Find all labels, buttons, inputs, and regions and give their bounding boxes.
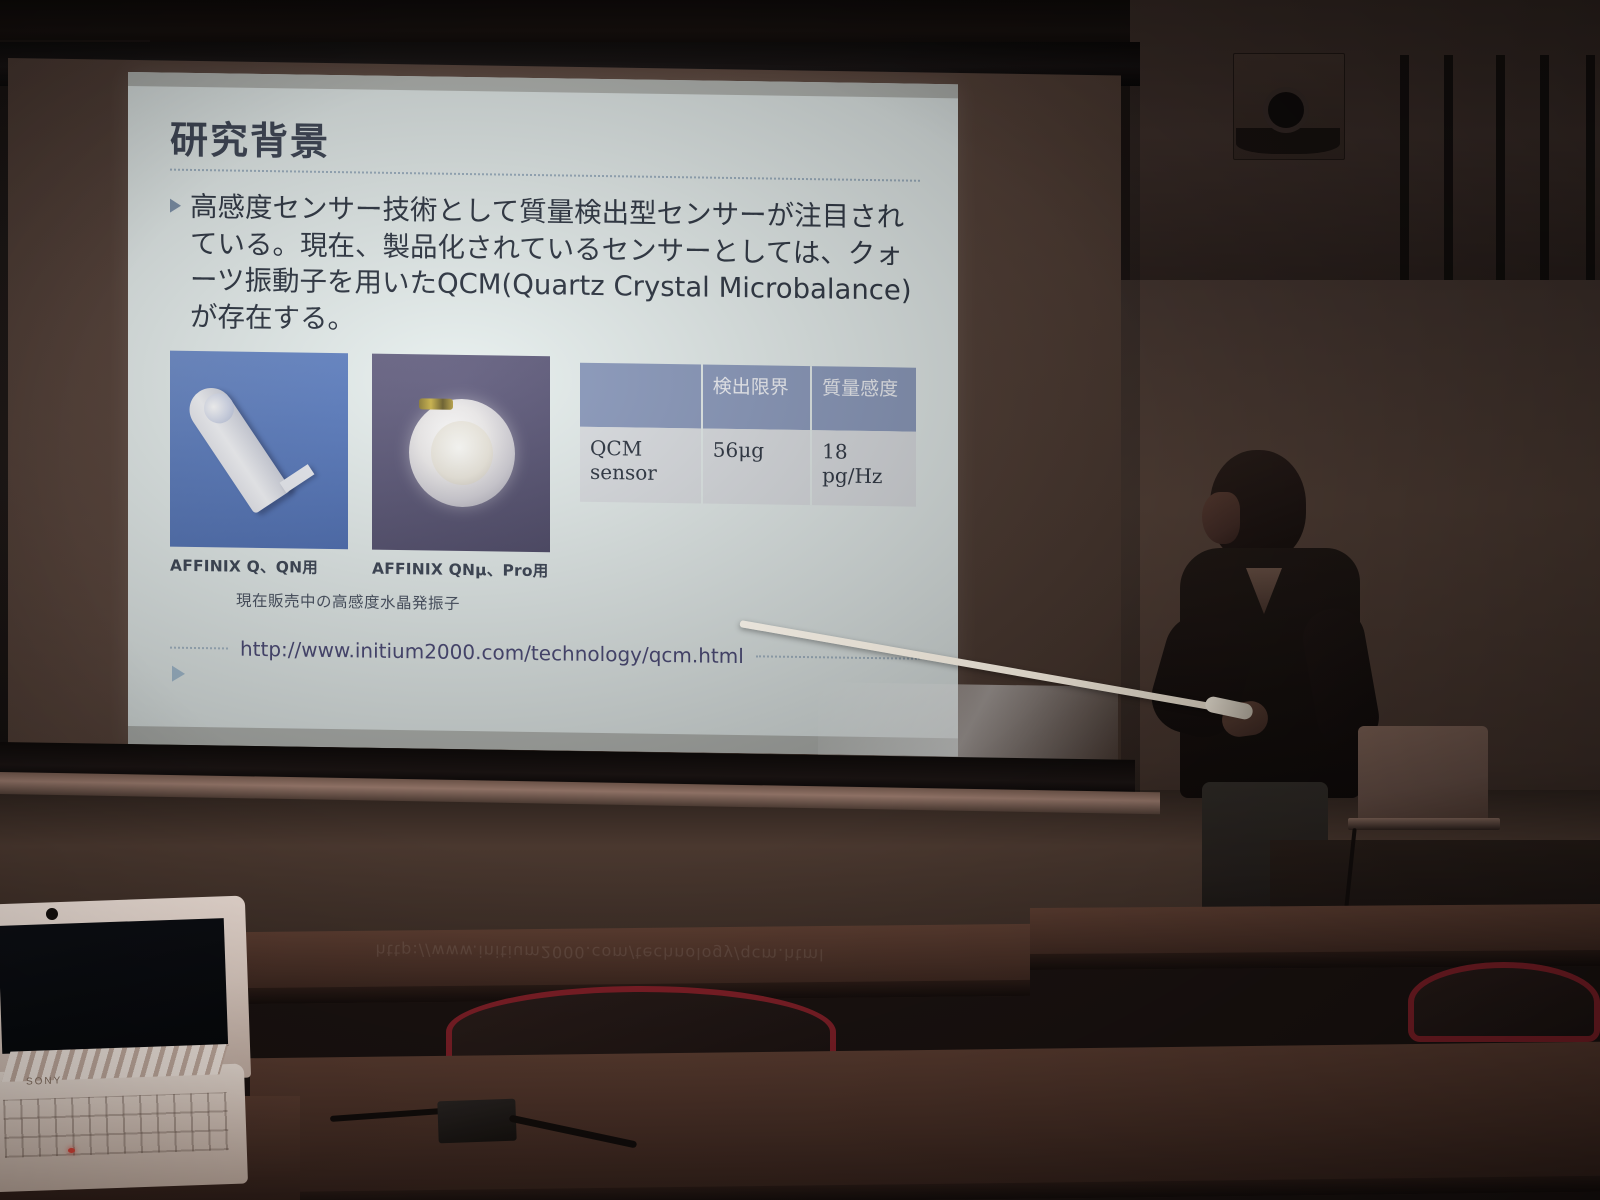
photo-block-1: AFFINIX Q、QN用 bbox=[170, 351, 348, 579]
photo-caption-2: AFFINIX QNμ、Pro用 bbox=[372, 557, 550, 582]
chair-right bbox=[1408, 962, 1600, 1042]
quartz-disc-shape bbox=[409, 398, 515, 508]
slide-title: 研究背景 bbox=[170, 121, 920, 170]
cell-mass-sensitivity: 18 pg/Hz bbox=[811, 430, 916, 507]
presenter-laptop-base bbox=[1348, 818, 1500, 830]
table-header-mass-sensitivity: 質量感度 bbox=[811, 366, 916, 432]
foreground-laptop-screen bbox=[0, 918, 228, 1054]
bottom-bullet-triangle-icon bbox=[172, 666, 185, 682]
cell-detection-limit: 56μg bbox=[702, 429, 811, 506]
photo-caption-1: AFFINIX Q、QN用 bbox=[170, 554, 348, 579]
sensor-photo-flowcell bbox=[170, 351, 348, 550]
gold-electrode-shape bbox=[419, 399, 453, 411]
spec-table: 検出限界 質量感度 QCM sensor 56μg 18 pg/Hz bbox=[580, 363, 916, 507]
flowcell-body-shape bbox=[181, 380, 291, 515]
ac-power-adapter bbox=[437, 1099, 516, 1144]
wall-slats bbox=[1400, 55, 1600, 285]
url-dotted-left bbox=[170, 647, 228, 650]
foreground-laptop-keyboard[interactable] bbox=[3, 1092, 229, 1158]
projector-lens-icon bbox=[1268, 92, 1304, 128]
table-header-detection-limit: 検出限界 bbox=[702, 365, 811, 431]
source-url-row: http://www.initium2000.com/technology/qc… bbox=[170, 636, 920, 671]
media-row: AFFINIX Q、QN用 AFFINIX QNμ、Pro用 検出限界 質 bbox=[170, 351, 920, 587]
power-led-icon bbox=[68, 1148, 75, 1153]
sensor-photo-disc bbox=[372, 354, 550, 553]
table-row: QCM sensor 56μg 18 pg/Hz bbox=[580, 427, 916, 507]
table-header-blank bbox=[580, 363, 702, 429]
presenter-face bbox=[1202, 492, 1240, 544]
projector-skirt bbox=[1236, 128, 1340, 154]
source-url-text: http://www.initium2000.com/technology/qc… bbox=[228, 637, 756, 669]
bullet-paragraph: 高感度センサー技術として質量検出型センサーが注目されている。現在、製品化されてい… bbox=[170, 189, 920, 346]
lecture-room-scene: 研究背景 高感度センサー技術として質量検出型センサーが注目されている。現在、製品… bbox=[0, 0, 1600, 1200]
foreground-laptop[interactable]: SONY bbox=[0, 900, 260, 1200]
laptop-brand-label: SONY bbox=[26, 1075, 63, 1087]
slide-body-text: 高感度センサー技術として質量検出型センサーが注目されている。現在、製品化されてい… bbox=[190, 189, 920, 346]
bullet-triangle-icon bbox=[170, 199, 181, 213]
projected-slide: 研究背景 高感度センサー技術として質量検出型センサーが注目されている。現在、製品… bbox=[128, 72, 958, 756]
desk-row-back-right bbox=[1030, 904, 1600, 970]
photo-block-2: AFFINIX QNμ、Pro用 bbox=[372, 354, 550, 582]
url-dotted-right bbox=[756, 656, 920, 660]
table-header-row: 検出限界 質量感度 bbox=[580, 363, 916, 432]
cell-sensor-name: QCM sensor bbox=[580, 427, 702, 504]
title-divider bbox=[170, 169, 920, 182]
photos-subcaption: 現在販売中の高感度水晶発振子 bbox=[236, 589, 920, 621]
presenter-laptop-lid bbox=[1358, 726, 1488, 822]
flowcell-tab-shape bbox=[280, 464, 315, 493]
